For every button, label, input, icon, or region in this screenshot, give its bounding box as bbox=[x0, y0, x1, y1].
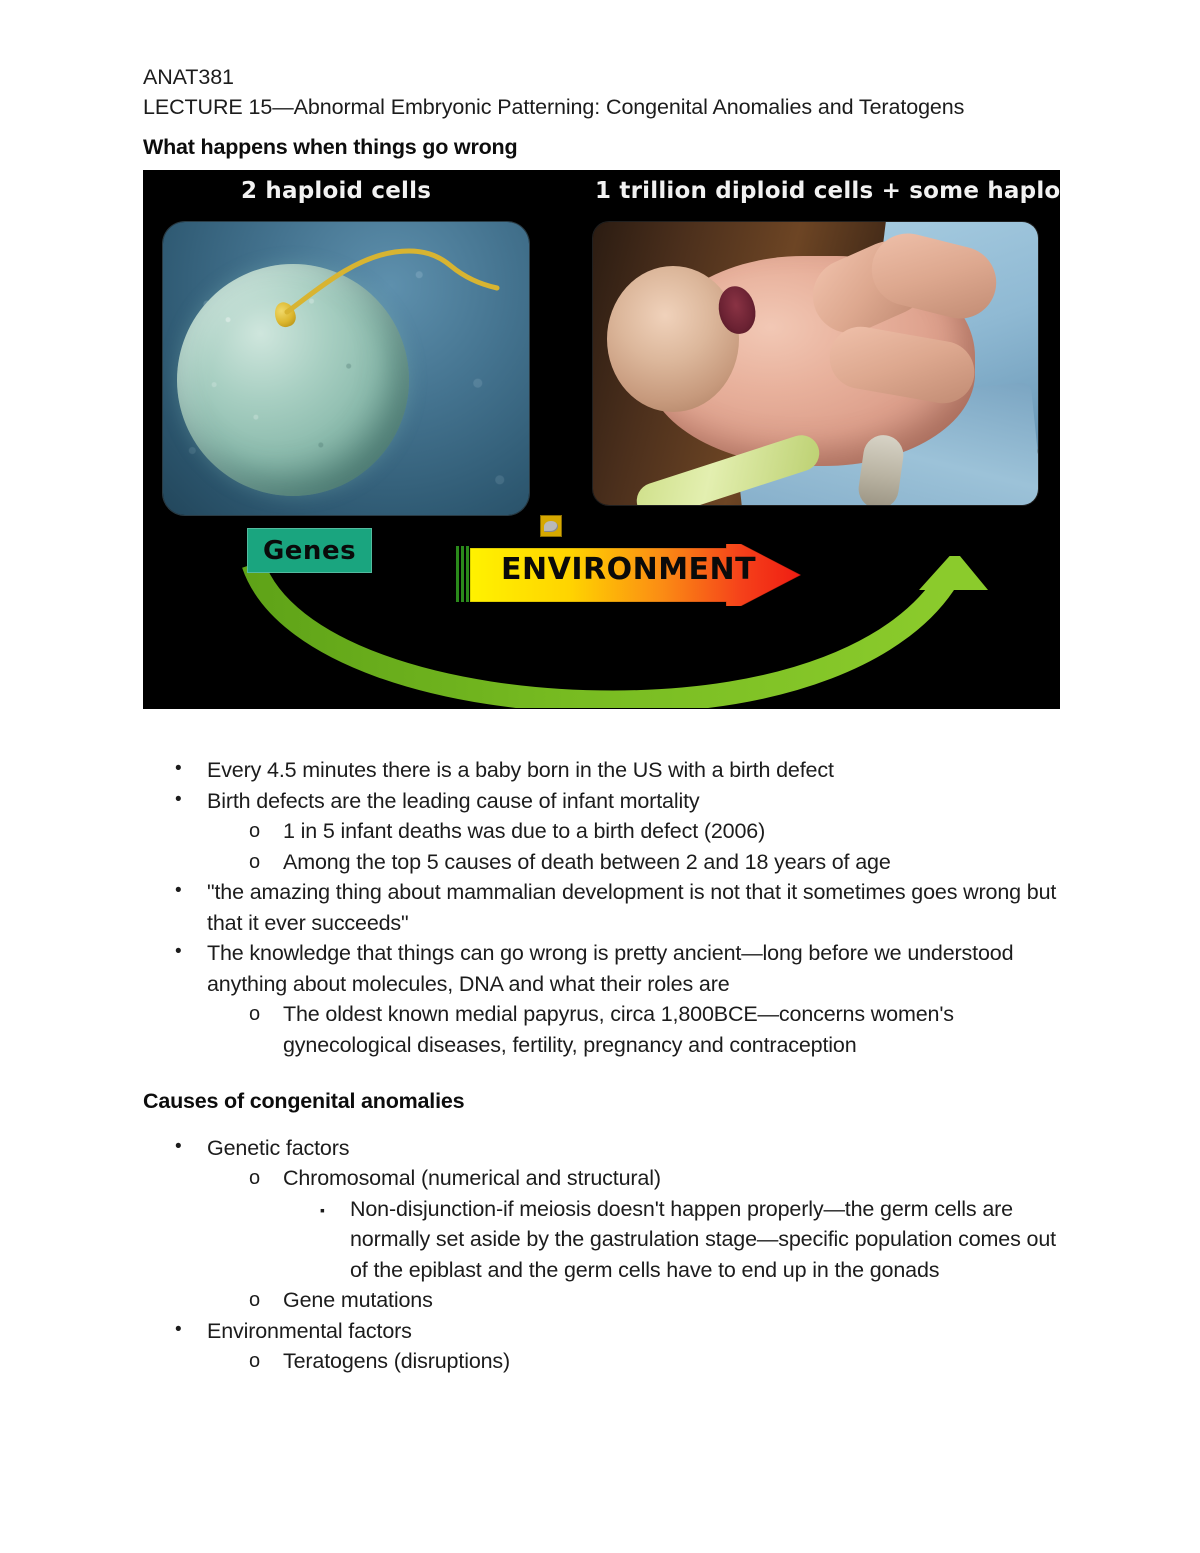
list-item: o The oldest known medial papyrus, circa… bbox=[143, 999, 1057, 1060]
lecture-title: LECTURE 15—Abnormal Embryonic Patterning… bbox=[143, 92, 1057, 122]
list-item-text: Gene mutations bbox=[283, 1285, 1057, 1316]
section-heading-causes: Causes of congenital anomalies bbox=[143, 1086, 1057, 1117]
bullet-marker: • bbox=[175, 1132, 182, 1163]
bullet-marker: • bbox=[175, 937, 182, 968]
list-item-text: Chromosomal (numerical and structural) bbox=[283, 1163, 1057, 1194]
comment-bubble-icon bbox=[540, 515, 562, 537]
list-item: • Genetic factors bbox=[143, 1133, 1057, 1164]
bullet-marker: o bbox=[249, 1163, 260, 1194]
list-item-text: Among the top 5 causes of death between … bbox=[283, 847, 1057, 878]
list-item-text: Genetic factors bbox=[207, 1133, 1057, 1164]
list-item-text: "the amazing thing about mammalian devel… bbox=[207, 877, 1057, 938]
document-page: ANAT381 LECTURE 15—Abnormal Embryonic Pa… bbox=[0, 0, 1200, 1553]
list-item: • "the amazing thing about mammalian dev… bbox=[143, 877, 1057, 938]
section-heading-what-happens: What happens when things go wrong bbox=[143, 132, 1057, 162]
list-item: • Environmental factors bbox=[143, 1316, 1057, 1347]
list-item: o 1 in 5 infant deaths was due to a birt… bbox=[143, 816, 1057, 847]
list-item: ▪ Non-disjunction-if meiosis doesn't hap… bbox=[143, 1194, 1057, 1286]
baby-head bbox=[607, 266, 739, 412]
bullet-marker: • bbox=[175, 754, 182, 785]
bullet-marker: • bbox=[175, 785, 182, 816]
list-item: o Gene mutations bbox=[143, 1285, 1057, 1316]
list-item-text: Environmental factors bbox=[207, 1316, 1057, 1347]
list-item: o Chromosomal (numerical and structural) bbox=[143, 1163, 1057, 1194]
course-code: ANAT381 bbox=[143, 62, 1057, 92]
list-item: • The knowledge that things can go wrong… bbox=[143, 938, 1057, 999]
list-item-text: The oldest known medial papyrus, circa 1… bbox=[283, 999, 1057, 1060]
bullet-marker: • bbox=[175, 876, 182, 907]
newborn-baby-photo bbox=[593, 222, 1038, 505]
list-item-text: Teratogens (disruptions) bbox=[283, 1346, 1057, 1377]
figure-caption-left: 2 haploid cells bbox=[241, 178, 431, 204]
list-item: • Birth defects are the leading cause of… bbox=[143, 786, 1057, 817]
bullet-list-section-1: • Every 4.5 minutes there is a baby born… bbox=[143, 755, 1057, 1060]
genes-environment-figure: 2 haploid cells 1 trillion diploid cells… bbox=[143, 170, 1060, 709]
list-item-text: Birth defects are the leading cause of i… bbox=[207, 786, 1057, 817]
bullet-marker: ▪ bbox=[320, 1195, 325, 1226]
bullet-list-section-2: • Genetic factors o Chromosomal (numeric… bbox=[143, 1133, 1057, 1377]
list-item-text: 1 in 5 infant deaths was due to a birth … bbox=[283, 816, 1057, 847]
genes-label-box: Genes bbox=[247, 528, 372, 573]
bullet-marker: o bbox=[249, 847, 260, 878]
list-item: • Every 4.5 minutes there is a baby born… bbox=[143, 755, 1057, 786]
environment-arrow bbox=[456, 544, 801, 606]
bullet-marker: o bbox=[249, 999, 260, 1030]
bullet-marker: o bbox=[249, 1285, 260, 1316]
bullet-marker: • bbox=[175, 1315, 182, 1346]
list-item-text: The knowledge that things can go wrong i… bbox=[207, 938, 1057, 999]
genes-label-text: Genes bbox=[263, 536, 356, 566]
list-item-text: Every 4.5 minutes there is a baby born i… bbox=[207, 755, 1057, 786]
sperm-egg-photo bbox=[163, 222, 529, 515]
speech-bubble-glyph bbox=[544, 521, 558, 532]
list-item: o Teratogens (disruptions) bbox=[143, 1346, 1057, 1377]
sperm-tail-icon bbox=[283, 242, 503, 318]
bullet-marker: o bbox=[249, 816, 260, 847]
list-item: o Among the top 5 causes of death betwee… bbox=[143, 847, 1057, 878]
bullet-marker: o bbox=[249, 1346, 260, 1377]
figure-caption-right: 1 trillion diploid cells + some haploid … bbox=[595, 178, 1060, 204]
list-item-text: Non-disjunction-if meiosis doesn't happe… bbox=[350, 1194, 1057, 1286]
